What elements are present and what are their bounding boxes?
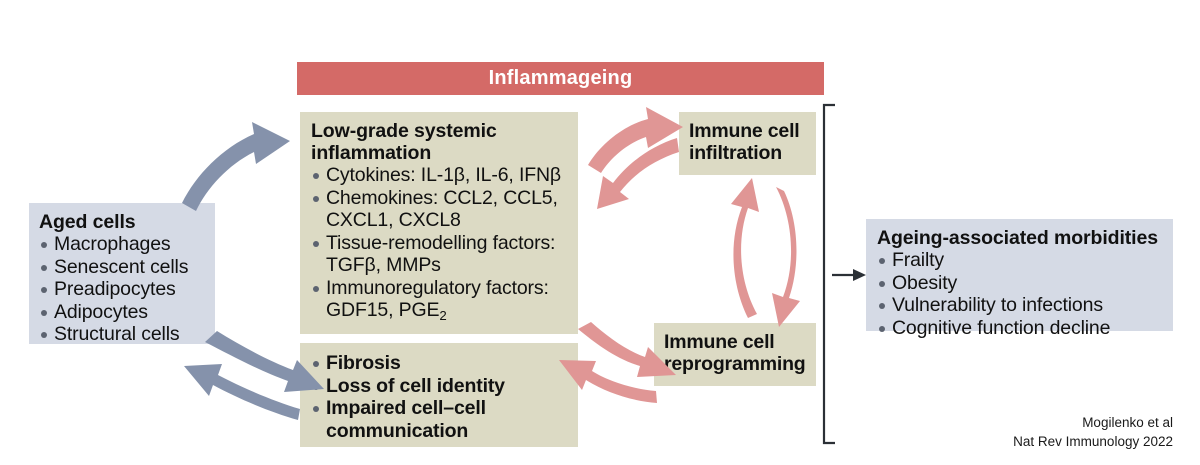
- arrows-layer: [0, 0, 1200, 465]
- arrow-reprogramming-to-infiltration: [731, 178, 759, 318]
- arrow-infiltration-to-reprogramming: [772, 187, 800, 327]
- arrow-aged-to-inflammation: [182, 122, 290, 211]
- arrow-to-morbidities: [832, 269, 866, 281]
- diagram-canvas: Inflammageing Aged cells Macrophages Sen…: [0, 0, 1200, 465]
